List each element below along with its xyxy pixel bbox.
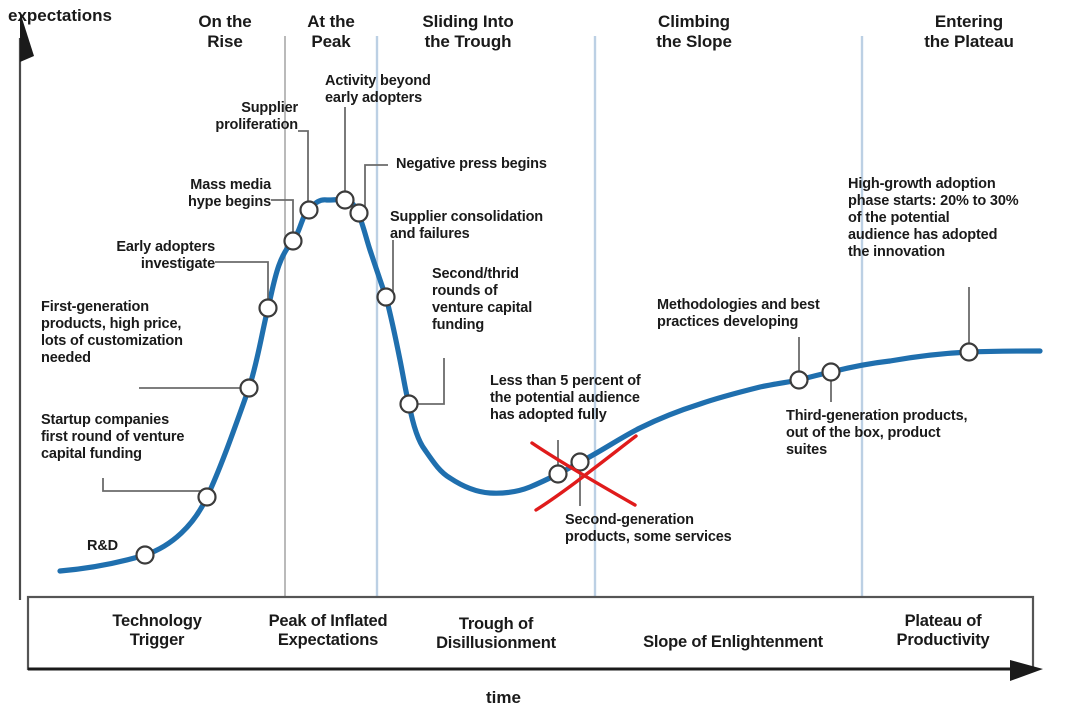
annotation-third-generation-products: Third-generation products, out of the bo… [786,408,967,459]
marker-early-adopters-investigate[interactable] [260,300,277,317]
red-x-annotation [532,436,636,510]
annotation-methodologies-and-best-practices: Methodologies and best practices develop… [657,297,820,331]
stage-name-trough-of-disillusionment: Trough of Disillusionment [406,615,586,654]
y-axis [20,12,34,600]
marker-mass-media-hype[interactable] [285,233,302,250]
annotation-activity-beyond-early-adopters: Activity beyond early adopters [325,73,431,107]
phase-header-at-the-peak: At the Peak [266,12,396,52]
annotation-mass-media-hype-begins: Mass media hype begins [131,177,271,211]
stage-name-plateau-of-productivity: Plateau of Productivity [868,612,1018,651]
marker-supplier-proliferation[interactable] [301,202,318,219]
annotation-supplier-proliferation: Supplier proliferation [158,100,298,134]
leader-negative-press [365,165,388,208]
annotation-startup-companies: Startup companies first round of venture… [41,412,184,463]
marker-first-generation-products[interactable] [241,380,258,397]
phase-header-sliding-into-the-trough: Sliding Into the Trough [388,12,548,52]
marker-startup-companies[interactable] [199,489,216,506]
marker-supplier-consolidation[interactable] [378,289,395,306]
y-axis-label: expectations [8,6,112,26]
annotation-supplier-consolidation-and-failures: Supplier consolidation and failures [390,209,543,243]
leader-early-adopters [215,262,268,303]
marker-negative-press-begins[interactable] [351,205,368,222]
hype-cycle-diagram: expectations time On the Rise At the Pea… [0,0,1067,716]
marker-less-than-5-percent[interactable] [550,466,567,483]
leader-supplier-consolidation [390,240,393,297]
leader-startup-companies [103,478,207,491]
stage-name-technology-trigger: Technology Trigger [87,612,227,651]
marker-second-generation-products[interactable] [572,454,589,471]
marker-third-generation-products[interactable] [823,364,840,381]
annotation-rnd: R&D [87,538,118,555]
phase-header-entering-the-plateau: Entering the Plateau [889,12,1049,52]
red-x-stroke-1 [532,443,635,505]
phase-header-climbing-the-slope: Climbing the Slope [614,12,774,52]
leader-supplier-proliferation [298,131,308,205]
leader-mass-media [271,200,293,236]
annotation-high-growth-adoption: High-growth adoption phase starts: 20% t… [848,176,1018,262]
marker-rnd[interactable] [137,547,154,564]
marker-activity-beyond-early-adopters[interactable] [337,192,354,209]
x-axis-arrowhead [1010,660,1043,681]
marker-second-third-rounds[interactable] [401,396,418,413]
annotation-negative-press-begins: Negative press begins [396,156,547,173]
leader-second-third-rounds [414,358,444,404]
x-axis-label: time [486,688,521,708]
annotation-early-adopters-investigate: Early adopters investigate [75,239,215,273]
marker-methodologies[interactable] [791,372,808,389]
annotation-less-than-5-percent: Less than 5 percent of the potential aud… [490,373,641,424]
stage-name-slope-of-enlightenment: Slope of Enlightenment [613,633,853,652]
red-x-stroke-2 [536,436,636,510]
stage-name-peak-of-inflated-expectations: Peak of Inflated Expectations [243,612,413,651]
annotation-second-generation-products: Second-generation products, some service… [565,512,732,546]
annotation-second-third-rounds-venture-capital: Second/thrid rounds of venture capital f… [432,266,532,334]
marker-high-growth-adoption[interactable] [961,344,978,361]
annotation-first-generation-products: First-generation products, high price, l… [41,299,183,367]
